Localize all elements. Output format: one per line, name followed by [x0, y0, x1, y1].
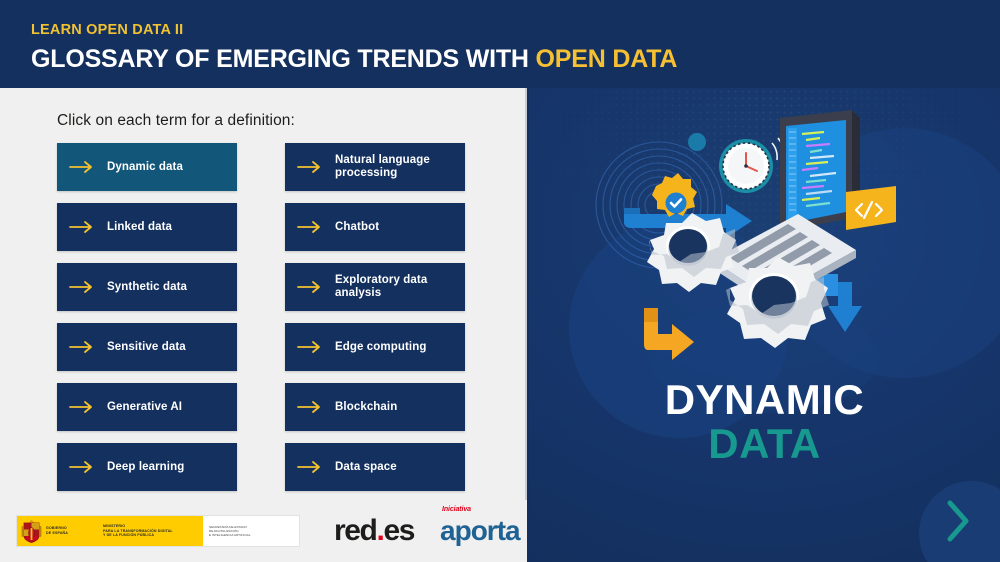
next-slide-button[interactable]: [919, 481, 1000, 562]
arrow-right-icon: [297, 220, 323, 234]
accent-dot-icon: [688, 133, 706, 151]
term-button[interactable]: Blockchain: [285, 383, 465, 431]
term-button-label: Linked data: [107, 221, 172, 234]
redes-text-a: red: [334, 514, 377, 547]
detail-panel: DYNAMIC DATA: [529, 88, 1000, 562]
aporta-small-text: Iniciativa: [442, 506, 471, 513]
gob-white-block: SECRETARÍA DE ESTADO DE DIGITALIZACIÓN E…: [203, 516, 299, 546]
term-button-label: Blockchain: [335, 401, 397, 414]
orange-arrow-icon: [644, 308, 694, 360]
term-button[interactable]: Synthetic data: [57, 263, 237, 311]
detail-caption: DYNAMIC DATA: [529, 378, 1000, 466]
arrow-right-icon: [69, 400, 95, 414]
arrow-right-icon: [69, 460, 95, 474]
page-title-main: GLOSSARY OF EMERGING TRENDS WITH: [31, 45, 536, 73]
arrow-right-icon: [69, 340, 95, 354]
coat-of-arms-icon: [21, 519, 42, 543]
term-button[interactable]: Linked data: [57, 203, 237, 251]
term-button-label: Deep learning: [107, 461, 184, 474]
redes-text-b: es: [383, 514, 414, 547]
header-kicker: LEARN OPEN DATA II: [31, 22, 183, 38]
gob-line2: MINISTERIO PARA LA TRANSFORMACIÓN DIGITA…: [103, 524, 199, 538]
dynamic-data-illustration: [584, 110, 944, 380]
footer-logos: GOBIERNO DE ESPAÑA MINISTERIO PARA LA TR…: [0, 500, 527, 562]
gob-line3: SECRETARÍA DE ESTADO DE DIGITALIZACIÓN E…: [209, 525, 251, 537]
arrow-right-icon: [297, 400, 323, 414]
term-button[interactable]: Edge computing: [285, 323, 465, 371]
arrow-right-icon: [69, 160, 95, 174]
arrow-right-icon: [69, 280, 95, 294]
term-button-label: Edge computing: [335, 341, 426, 354]
clock-icon: [719, 138, 784, 193]
term-button[interactable]: Natural language processing: [285, 143, 465, 191]
page-title-accent: OPEN DATA: [536, 45, 678, 73]
settings-gear-check-icon: [652, 173, 697, 217]
gobierno-de-espana-logo: GOBIERNO DE ESPAÑA MINISTERIO PARA LA TR…: [16, 515, 300, 547]
term-button-label: Synthetic data: [107, 281, 187, 294]
term-button-label: Exploratory data analysis: [335, 274, 457, 300]
term-button[interactable]: Sensitive data: [57, 323, 237, 371]
term-button-label: Generative AI: [107, 401, 182, 414]
arrow-right-icon: [297, 160, 323, 174]
caption-line-1: DYNAMIC: [529, 378, 1000, 422]
arrow-right-icon: [297, 460, 323, 474]
term-button-label: Dynamic data: [107, 161, 183, 174]
aporta-main-text: aporta: [440, 517, 520, 545]
gob-line1: GOBIERNO DE ESPAÑA: [46, 526, 92, 535]
arrow-right-icon: [297, 280, 323, 294]
term-button[interactable]: Chatbot: [285, 203, 465, 251]
aporta-logo: Iniciativa aporta: [440, 517, 520, 545]
terms-panel: Click on each term for a definition: Dyn…: [0, 88, 527, 562]
instruction-text: Click on each term for a definition:: [57, 112, 295, 130]
caption-line-2: DATA: [529, 422, 1000, 466]
term-button[interactable]: Deep learning: [57, 443, 237, 491]
term-button-label: Chatbot: [335, 221, 379, 234]
arrow-right-icon: [297, 340, 323, 354]
slide-root: LEARN OPEN DATA II GLOSSARY OF EMERGING …: [0, 0, 1000, 562]
red-es-logo: red.es: [334, 516, 414, 546]
code-tag-icon: [846, 186, 896, 230]
term-button[interactable]: Data space: [285, 443, 465, 491]
term-button[interactable]: Exploratory data analysis: [285, 263, 465, 311]
term-button-label: Natural language processing: [335, 154, 457, 180]
term-button-grid: Dynamic dataNatural language processingL…: [57, 143, 467, 491]
term-button-label: Data space: [335, 461, 397, 474]
gob-yellow-block: GOBIERNO DE ESPAÑA MINISTERIO PARA LA TR…: [17, 516, 203, 546]
chevron-right-icon: [946, 499, 972, 543]
arrow-right-icon: [69, 220, 95, 234]
term-button-label: Sensitive data: [107, 341, 186, 354]
page-title: GLOSSARY OF EMERGING TRENDS WITH OPEN DA…: [31, 45, 677, 74]
term-button[interactable]: Dynamic data: [57, 143, 237, 191]
term-button[interactable]: Generative AI: [57, 383, 237, 431]
slide-header: LEARN OPEN DATA II GLOSSARY OF EMERGING …: [0, 0, 1000, 88]
